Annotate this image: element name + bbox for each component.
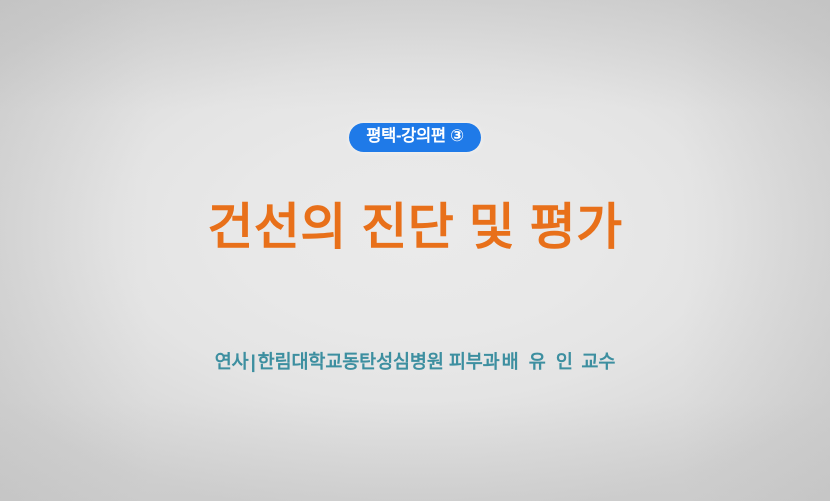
speaker-role-label: 연사 [215,351,249,372]
badge-row: 평택-강의편 ③ [0,123,830,152]
lecture-title-slide: 평택-강의편 ③ 건선의 진단 및 평가 연사|한림대학교동탄성심병원 피부과배… [0,0,830,501]
speaker-rank: 교수 [575,351,615,372]
slide-content: 평택-강의편 ③ 건선의 진단 및 평가 연사|한림대학교동탄성심병원 피부과배… [0,0,830,501]
series-badge: 평택-강의편 ③ [349,123,481,152]
slide-title: 건선의 진단 및 평가 [0,197,830,257]
speaker-affiliation: 한림대학교동탄성심병원 피부과 [258,351,500,372]
speaker-line: 연사|한림대학교동탄성심병원 피부과배 유 인교수 [0,349,830,375]
speaker-separator: | [249,351,258,372]
speaker-name: 배 유 인 [500,351,576,372]
